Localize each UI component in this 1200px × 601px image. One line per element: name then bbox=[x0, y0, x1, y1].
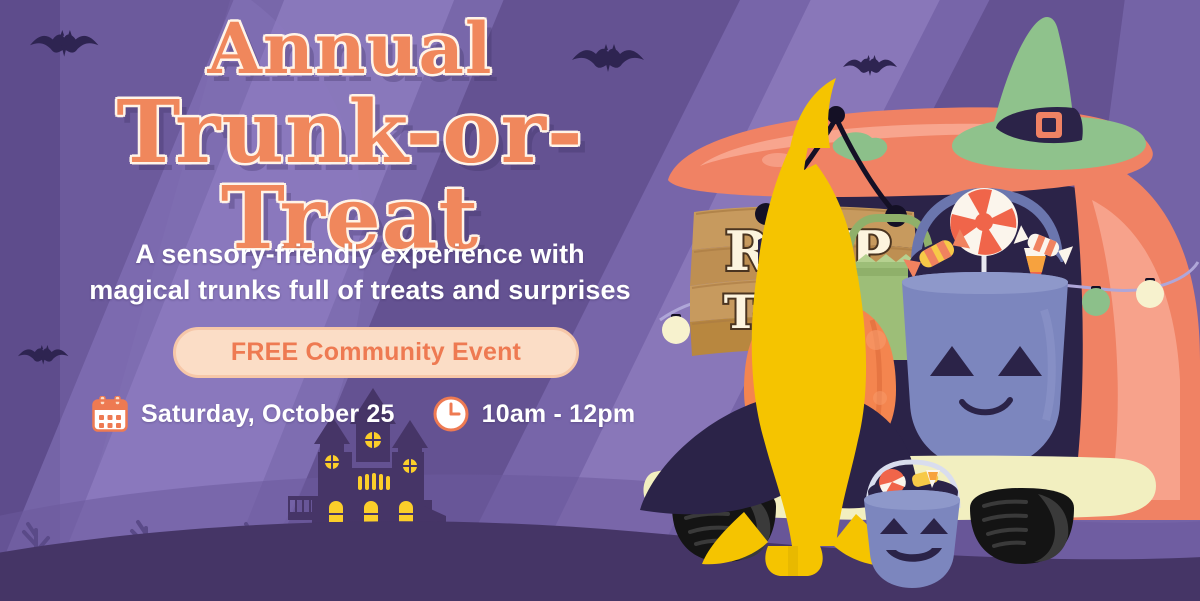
title-line-1: Annual bbox=[0, 14, 700, 84]
event-time-text: 10am - 12pm bbox=[482, 400, 636, 429]
clock-icon bbox=[433, 396, 469, 432]
halloween-event-banner: RSVP Today! bbox=[0, 0, 1200, 601]
text-column: Annual Trunk-or-Treat A sensory-friendly… bbox=[0, 0, 700, 601]
illustration-artwork: RSVP Today! bbox=[640, 0, 1200, 601]
event-time: 10am - 12pm bbox=[433, 396, 636, 432]
event-details-row: Saturday, October 25 10am - 12pm bbox=[92, 396, 635, 432]
subtitle: A sensory-friendly experience with magic… bbox=[40, 237, 680, 308]
subtitle-line-1: A sensory-friendly experience with bbox=[40, 237, 680, 273]
free-event-badge: FREE Community Event bbox=[173, 327, 579, 378]
free-event-badge-label: FREE Community Event bbox=[231, 338, 521, 367]
event-date: Saturday, October 25 bbox=[92, 396, 395, 432]
bucket-body bbox=[902, 272, 1068, 470]
witch-hat-icon bbox=[952, 17, 1146, 170]
subtitle-line-2: magical trunks full of treats and surpri… bbox=[40, 273, 680, 309]
event-date-text: Saturday, October 25 bbox=[141, 400, 395, 429]
title-block: Annual Trunk-or-Treat bbox=[0, 14, 700, 262]
calendar-icon bbox=[92, 396, 128, 432]
